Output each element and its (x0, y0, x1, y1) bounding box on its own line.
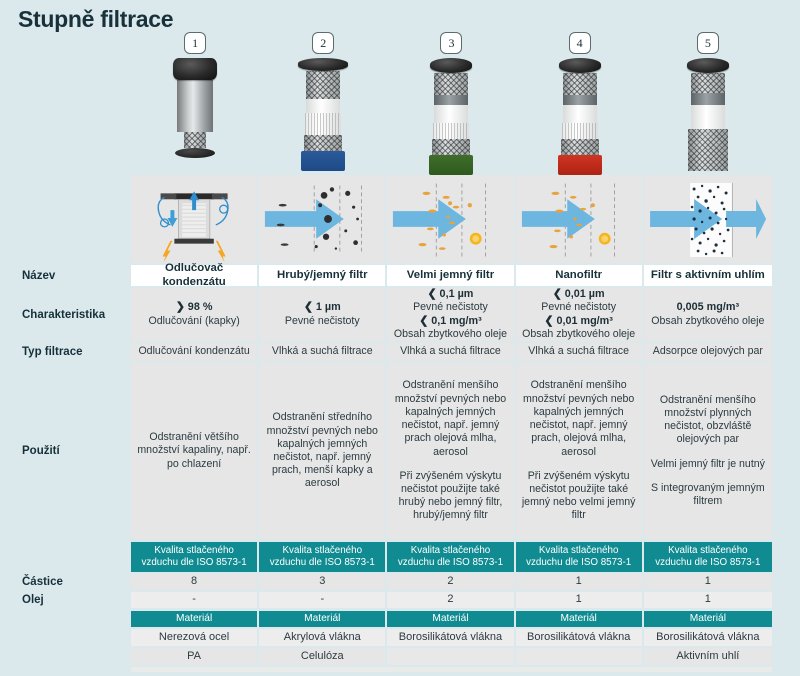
use-paragraph: Odstranění většího množství kapaliny, na… (136, 431, 252, 471)
row-material-header: Materiál Materiál Materiál Materiál Mate… (0, 611, 800, 627)
iso-header-3: Kvalita stlačeného vzduchu dle ISO 8573-… (387, 542, 515, 572)
row-name: Název Odlučovač kondenzátu Hrubý/jemný f… (0, 265, 800, 286)
page-title: Stupně filtrace (18, 6, 173, 33)
name-cell-2: Hrubý/jemný filtr (259, 265, 387, 286)
row-label-material (0, 611, 131, 627)
row-use: Použití Odstranění většího množství kapa… (0, 363, 800, 539)
typ-cell-3: Vlhká a suchá filtrace (387, 343, 515, 361)
use-paragraph: Odstranění středního množství pevných ne… (264, 411, 380, 490)
diagram-row-label (0, 175, 131, 263)
coarse-fine-filter-diagram-icon (259, 175, 385, 263)
condensate-separator-cartridge-icon (167, 58, 223, 158)
typ-cell-4: Vlhká a suchá filtrace (516, 343, 644, 361)
row-label-use: Použití (0, 363, 131, 539)
particles-cell-5: 1 (644, 574, 772, 590)
use-paragraph: Odstranění menšího množství pevných nebo… (521, 379, 637, 458)
oil-cell-5: 1 (644, 592, 772, 608)
iso-header-5: Kvalita stlačeného vzduchu dle ISO 8573-… (644, 542, 772, 572)
table-bottom-strip (131, 667, 772, 672)
activated-carbon-filter-cartridge-icon (680, 58, 736, 171)
oil-cell-2: - (259, 592, 387, 608)
name-cell-3: Velmi jemný filtr (387, 265, 515, 286)
nanofilter-diagram-icon (516, 175, 642, 263)
char-label2-4: Obsah zbytkového oleje (522, 328, 635, 341)
material-header-5: Materiál (644, 611, 772, 627)
typ-cell-1: Odlučování kondenzátu (131, 343, 259, 361)
product-image-strip: 1 2 3 4 (131, 30, 772, 175)
char-cell-5: 0,005 mg/m³ Obsah zbytkového oleje (644, 288, 772, 341)
char-value2-3: ❮ 0,1 mg/m³ (419, 315, 481, 328)
particles-cell-2: 3 (259, 574, 387, 590)
particles-cell-3: 2 (387, 574, 515, 590)
row-oil: Olej - - 2 1 1 (0, 592, 800, 608)
diagram-cell-3 (387, 175, 515, 263)
iso-header-1: Kvalita stlačeného vzduchu dle ISO 8573-… (131, 542, 259, 572)
char-value-3: ❮ 0,1 µm (428, 288, 474, 301)
material2-cell-3 (387, 648, 515, 665)
material2-cell-4 (516, 648, 644, 665)
row-label-filtration-type: Typ filtrace (0, 343, 131, 361)
iso-header-4: Kvalita stlačeného vzduchu dle ISO 8573-… (516, 542, 644, 572)
char-value-4: ❮ 0,01 µm (553, 288, 605, 301)
use-cell-4: Odstranění menšího množství pevných nebo… (516, 363, 644, 539)
use-cell-5: Odstranění menšího množství plynných neč… (644, 363, 772, 539)
row-material-2: PA Celulóza Aktivním uhlí (0, 648, 800, 665)
material-header-1: Materiál (131, 611, 259, 627)
material-header-3: Materiál (387, 611, 515, 627)
char-label-4: Pevné nečistoty (541, 301, 616, 314)
row-label-oil: Olej (0, 592, 131, 608)
material-header-4: Materiál (516, 611, 644, 627)
char-value2-5: 0,005 mg/m³ (677, 301, 739, 314)
stage-badge-5: 5 (697, 32, 719, 54)
row-filtration-type: Typ filtrace Odlučování kondenzátu Vlhká… (0, 343, 800, 361)
char-label-1: Odlučování (kapky) (148, 315, 239, 328)
product-stage-4: 4 (516, 30, 644, 175)
char-value-1: ❯ 98 % (176, 301, 213, 314)
row-label-characteristics: Charakteristika (0, 288, 131, 341)
use-cell-2: Odstranění středního množství pevných ne… (259, 363, 387, 539)
row-particles: Částice 8 3 2 1 1 (0, 574, 800, 590)
name-cell-5: Filtr s aktivním uhlím (644, 265, 772, 286)
coarse-fine-filter-cartridge-icon (295, 58, 351, 171)
stage-badge-4: 4 (569, 32, 591, 54)
char-label2-3: Obsah zbytkového oleje (394, 328, 507, 341)
very-fine-filter-cartridge-icon (423, 58, 479, 175)
use-paragraph: Velmi jemný filtr je nutný (651, 458, 765, 471)
row-label-particles: Částice (0, 574, 131, 590)
product-stage-5: 5 (644, 30, 772, 175)
filtration-stages-table: Název Odlučovač kondenzátu Hrubý/jemný f… (0, 175, 800, 672)
material1-cell-1: Nerezová ocel (131, 629, 259, 646)
row-iso-header: Kvalita stlačeného vzduchu dle ISO 8573-… (0, 542, 800, 572)
material1-cell-2: Akrylová vlákna (259, 629, 387, 646)
char-cell-3: ❮ 0,1 µm Pevné nečistoty ❮ 0,1 mg/m³ Obs… (387, 288, 515, 341)
stage-badge-3: 3 (440, 32, 462, 54)
use-cell-3: Odstranění menšího množství pevných nebo… (387, 363, 515, 539)
diagram-cell-2 (259, 175, 387, 263)
product-stage-1: 1 (131, 30, 259, 175)
diagram-cell-5 (644, 175, 772, 263)
product-stage-2: 2 (259, 30, 387, 175)
condensate-separator-diagram-icon (131, 175, 257, 263)
use-cell-1: Odstranění většího množství kapaliny, na… (131, 363, 259, 539)
row-label-material-2 (0, 648, 131, 665)
typ-cell-2: Vlhká a suchá filtrace (259, 343, 387, 361)
char-value-2: ❮ 1 µm (304, 301, 341, 314)
nanofilter-cartridge-icon (552, 58, 608, 175)
material1-cell-4: Borosilikátová vlákna (516, 629, 644, 646)
char-cell-2: ❮ 1 µm Pevné nečistoty (259, 288, 387, 341)
material2-cell-5: Aktivním uhlí (644, 648, 772, 665)
diagram-cell-1 (131, 175, 259, 263)
char-cell-1: ❯ 98 % Odlučování (kapky) (131, 288, 259, 341)
row-label-iso (0, 542, 131, 572)
particles-cell-1: 8 (131, 574, 259, 590)
iso-header-2: Kvalita stlačeného vzduchu dle ISO 8573-… (259, 542, 387, 572)
diagram-row (0, 175, 800, 263)
row-label-material-1 (0, 629, 131, 646)
material2-cell-2: Celulóza (259, 648, 387, 665)
oil-cell-4: 1 (516, 592, 644, 608)
char-value2-4: ❮ 0,01 mg/m³ (544, 315, 612, 328)
use-paragraph: S integrovaným jemným filtrem (649, 482, 767, 508)
char-label-3: Pevné nečistoty (413, 301, 488, 314)
product-stage-3: 3 (387, 30, 515, 175)
name-cell-4: Nanofiltr (516, 265, 644, 286)
stage-badge-2: 2 (312, 32, 334, 54)
typ-cell-5: Adsorpce olejových par (644, 343, 772, 361)
particles-cell-4: 1 (516, 574, 644, 590)
material2-cell-1: PA (131, 648, 259, 665)
use-paragraph: Při zvýšeném výskytu nečistot použijte t… (392, 470, 508, 523)
material1-cell-3: Borosilikátová vlákna (387, 629, 515, 646)
oil-cell-3: 2 (387, 592, 515, 608)
row-label-name: Název (0, 265, 131, 286)
char-cell-4: ❮ 0,01 µm Pevné nečistoty ❮ 0,01 mg/m³ O… (516, 288, 644, 341)
use-paragraph: Odstranění menšího množství plynných neč… (649, 394, 767, 447)
char-label-2: Pevné nečistoty (285, 315, 360, 328)
row-characteristics: Charakteristika ❯ 98 % Odlučování (kapky… (0, 288, 800, 341)
use-paragraph: Odstranění menšího množství pevných nebo… (392, 379, 508, 458)
name-cell-1: Odlučovač kondenzátu (131, 265, 259, 286)
row-material-1: Nerezová ocel Akrylová vlákna Borosiliká… (0, 629, 800, 646)
oil-cell-1: - (131, 592, 259, 608)
very-fine-filter-diagram-icon (387, 175, 513, 263)
material1-cell-5: Borosilikátová vlákna (644, 629, 772, 646)
material-header-2: Materiál (259, 611, 387, 627)
stage-badge-1: 1 (184, 32, 206, 54)
use-paragraph: Při zvýšeném výskytu nečistot použijte t… (521, 470, 637, 523)
diagram-cell-4 (516, 175, 644, 263)
char-label2-5: Obsah zbytkového oleje (651, 315, 764, 328)
activated-carbon-filter-diagram-icon (644, 175, 772, 263)
